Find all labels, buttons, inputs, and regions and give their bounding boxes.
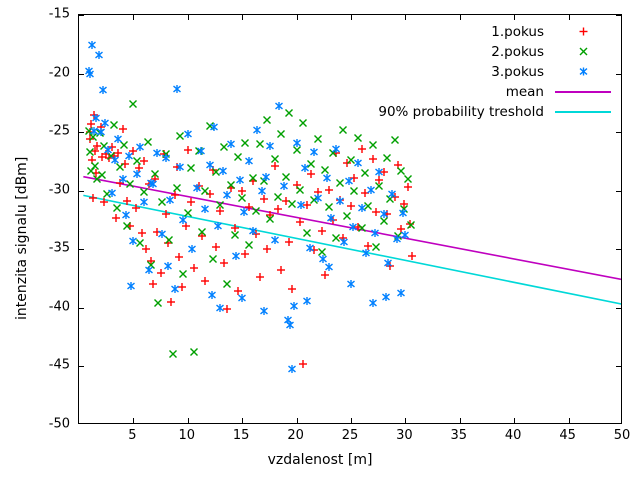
data-point [368,299,377,308]
x-axis-tick-label: 20 [287,428,304,443]
data-point [340,238,349,247]
x-axis-tick [569,418,570,423]
data-point [216,303,225,312]
data-point [381,293,390,302]
data-point [118,175,127,184]
x-axis-tick [133,418,134,423]
y-axis-tick [616,191,621,192]
data-point [114,135,123,144]
data-point [140,198,149,207]
legend-key [552,62,614,81]
data-point [314,193,323,202]
data-point [370,228,379,237]
legend-item-90%-probability-treshold: 90% probability treshold [378,102,614,121]
legend-item-3-pokus: 3.pokus [491,62,614,81]
data-point [162,153,171,162]
data-point [288,364,297,373]
data-point [353,158,362,167]
data-point [292,138,301,147]
data-point [172,84,181,93]
data-point [96,128,105,137]
chart-root: intenzita signalu [dBm] -15-20-25-30-35-… [0,0,640,480]
data-point [125,151,134,160]
x-axis-tick [460,418,461,423]
data-point [397,288,406,297]
x-axis-tick-label: 40 [505,428,522,443]
data-point [323,173,332,182]
data-point [231,252,240,261]
data-point [249,226,258,235]
x-axis-tick [514,418,515,423]
data-point [327,213,336,222]
data-point [366,185,375,194]
y-axis-tick-label: -20 [8,65,70,80]
legend-item-mean: mean [506,82,614,101]
x-axis-tick-label: 30 [396,428,413,443]
data-point [214,221,223,230]
data-point [183,130,192,139]
y-axis-tick [79,15,84,16]
data-point [238,294,247,303]
legend-label: 1.pokus [491,24,544,40]
legend-line-swatch [555,91,611,93]
y-axis-tick [79,366,84,367]
y-axis-tick [616,308,621,309]
data-point [362,248,371,257]
data-point [244,157,253,166]
x-axis-tick [460,15,461,20]
x-axis-title: vzdalenost [m] [0,452,640,468]
y-axis-tick [79,132,84,133]
data-point [399,208,408,217]
data-point [266,142,275,151]
y-axis-tick [79,191,84,192]
x-axis-tick [514,15,515,20]
data-point [331,144,340,153]
data-point [94,50,103,59]
y-axis-tick-label: -15 [8,7,70,22]
data-point [296,200,305,209]
legend-label: mean [506,84,544,100]
data-point [257,186,266,195]
data-point [290,301,299,310]
y-axis-tick-label: -30 [8,182,70,197]
data-point [188,245,197,254]
x-axis-tick [242,418,243,423]
data-point [92,114,101,123]
data-point [262,172,271,181]
data-point [104,145,113,154]
x-axis-tick [405,418,406,423]
data-point [279,182,288,191]
data-point [153,149,162,158]
data-point [132,170,141,179]
legend-key [552,102,614,121]
data-point [110,156,119,165]
data-point [164,261,173,270]
plus-marker [579,27,588,36]
data-point [240,207,249,216]
data-point [388,190,397,199]
data-point [227,139,236,148]
data-point [392,234,401,243]
data-point [196,146,205,155]
data-point [325,262,334,271]
data-point [344,177,353,186]
data-point [205,160,214,169]
data-point [375,167,384,176]
data-point [305,244,314,253]
y-axis-tick-label: -50 [8,417,70,432]
data-point [101,118,110,127]
x-axis-tick [188,418,189,423]
data-point [207,290,216,299]
data-point [357,204,366,213]
legend-item-2-pokus: 2.pokus [491,42,614,61]
legend-label: 2.pokus [491,44,544,60]
data-point [253,125,262,134]
data-point [259,307,268,316]
data-point [85,69,94,78]
asterisk-marker [579,67,588,76]
data-point [127,281,136,290]
legend-key [552,22,614,41]
cross-marker [579,47,588,56]
y-axis-tick [79,74,84,75]
data-point [383,259,392,268]
x-axis-tick [569,15,570,20]
x-axis-tick-label: 25 [342,428,359,443]
y-axis-tick [79,249,84,250]
data-point [144,266,153,275]
legend-key [552,82,614,101]
x-axis-tick-label: 10 [179,428,196,443]
x-axis-tick-label: 15 [233,428,250,443]
data-point [129,237,138,246]
data-point [209,123,218,132]
x-axis-tick [351,15,352,20]
data-point [301,164,310,173]
y-axis-tick [616,249,621,250]
legend-line-swatch [555,111,611,113]
x-axis-tick [405,15,406,20]
y-axis-tick [616,15,621,16]
x-axis-tick [188,15,189,20]
data-point [166,196,175,205]
legend-label: 3.pokus [491,64,544,80]
legend-item-1-pokus: 1.pokus [491,22,614,41]
x-axis-tick [297,15,298,20]
data-point [179,216,188,225]
data-point [146,178,155,187]
data-point [218,166,227,175]
data-point [170,285,179,294]
data-point [347,280,356,289]
data-point [222,191,231,200]
y-axis-tick-label: -45 [8,358,70,373]
data-point [157,230,166,239]
data-point [401,231,410,240]
data-point [98,85,107,94]
data-point [336,197,345,206]
data-point [303,296,312,305]
x-axis-tick [297,418,298,423]
y-axis-tick-label: -35 [8,241,70,256]
data-point [176,163,185,172]
data-point [121,211,130,220]
data-point [88,41,97,50]
y-axis-tick-label: -25 [8,124,70,139]
data-point [379,210,388,219]
x-axis-tick [242,15,243,20]
x-axis-tick-label: 45 [559,428,576,443]
data-point [349,223,358,232]
data-point [270,235,279,244]
data-point [286,321,295,330]
data-point [201,205,210,214]
y-axis-tick-label: -40 [8,299,70,314]
y-axis-tick-labels: -15-20-25-30-35-40-45-50 [0,0,70,480]
y-axis-tick [79,308,84,309]
legend-key [552,42,614,61]
data-point [135,143,144,152]
x-axis-tick-label: 50 [614,428,631,443]
x-axis-tick-label: 35 [451,428,468,443]
y-axis-tick [616,366,621,367]
legend-label: 90% probability treshold [378,104,544,120]
data-point [192,184,201,193]
x-axis-tick-label: 5 [128,428,136,443]
y-axis-tick [616,132,621,133]
data-point [107,189,116,198]
x-axis-tick [133,15,134,20]
data-point [236,176,245,185]
y-axis-tick [616,74,621,75]
data-point [310,148,319,157]
x-axis-tick [351,418,352,423]
data-point [275,102,284,111]
